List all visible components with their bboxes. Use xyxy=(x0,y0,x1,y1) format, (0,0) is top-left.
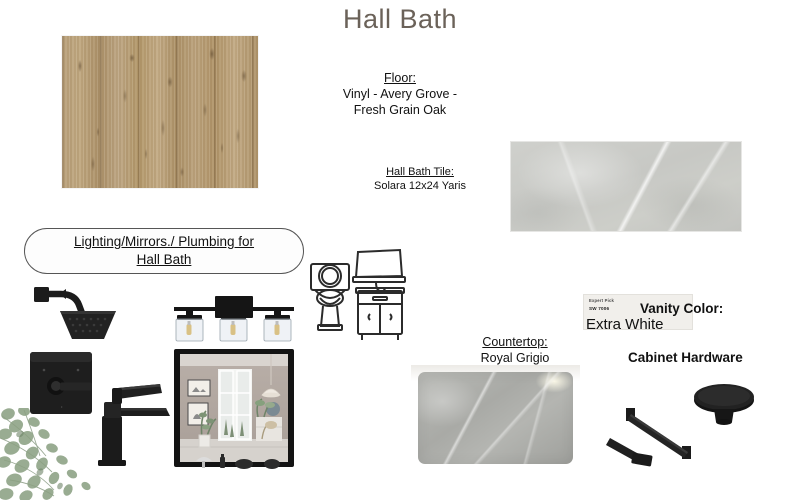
mood-board: Hall Bath Floor: Vinyl - Avery Grove - F… xyxy=(0,0,800,500)
floor-line2: Fresh Grain Oak xyxy=(298,102,502,118)
countertop-heading: Countertop: xyxy=(432,334,598,350)
cabinet-small-pull xyxy=(606,438,653,467)
gray-tile-swatch xyxy=(510,141,742,232)
countertop-label: Countertop: Royal Grigio xyxy=(432,334,598,366)
eucalyptus-greenery xyxy=(0,408,112,500)
vanity-light-fixture xyxy=(162,288,306,346)
floor-line1: Vinyl - Avery Grove - xyxy=(298,86,502,102)
toilet-line-art xyxy=(306,246,406,344)
vanity-line-art xyxy=(353,250,405,340)
floor-heading: Floor: xyxy=(298,70,502,86)
floor-label: Floor: Vinyl - Avery Grove - Fresh Grain… xyxy=(298,70,502,118)
countertop-line1: Royal Grigio xyxy=(432,350,598,366)
paint-code-label: SW 7006 xyxy=(589,306,609,311)
cabinet-bar-pull xyxy=(626,408,691,459)
vanity-color-heading: Vanity Color: xyxy=(640,301,723,316)
wood-floor-swatch xyxy=(62,36,258,188)
cabinet-hardware-heading: Cabinet Hardware xyxy=(628,350,743,365)
lighting-section-pill[interactable]: Lighting/Mirrors./ Plumbing for Hall Bat… xyxy=(24,228,304,274)
tile-line1: Solara 12x24 Yaris xyxy=(332,179,508,193)
lighting-line2: Hall Bath xyxy=(137,252,192,267)
cabinet-knob xyxy=(694,384,754,425)
shower-head-fixture xyxy=(30,283,122,345)
page-title: Hall Bath xyxy=(0,4,800,35)
tile-heading: Hall Bath Tile: xyxy=(332,165,508,179)
vanity-color-name: Extra White xyxy=(586,316,664,333)
countertop-slab-swatch xyxy=(418,372,573,464)
tile-label: Hall Bath Tile: Solara 12x24 Yaris xyxy=(332,165,508,193)
cabinet-hardware-set xyxy=(606,376,776,480)
expert-pick-label: Expert Pick xyxy=(589,298,614,303)
framed-mirror xyxy=(172,347,296,471)
lighting-line1: Lighting/Mirrors./ Plumbing for xyxy=(74,234,254,249)
